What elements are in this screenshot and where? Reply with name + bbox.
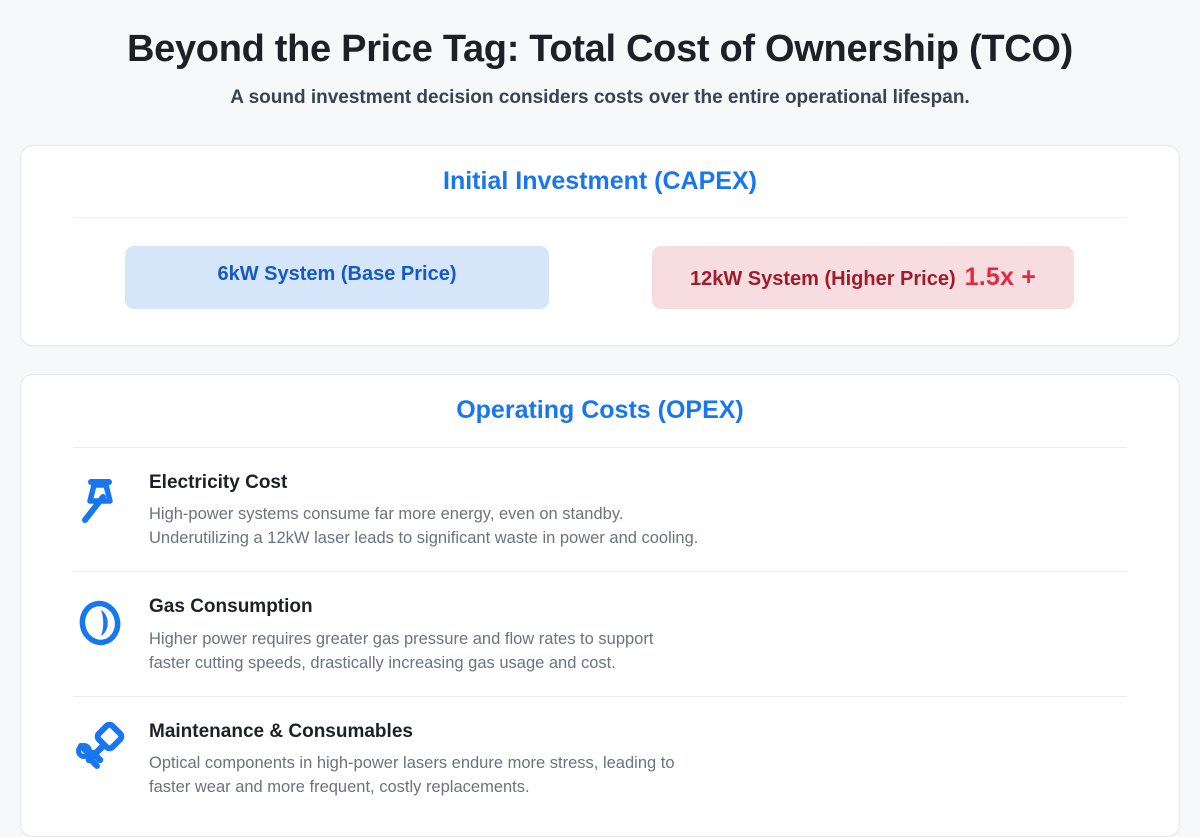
opex-item-text: Gas Consumption Higher power requires gr… <box>149 594 1127 676</box>
opex-item-gas-consumption: Gas Consumption Higher power requires gr… <box>73 572 1127 697</box>
opex-item-electricity-cost: Electricity Cost High-power systems cons… <box>73 448 1127 573</box>
opex-item-desc-line-1: High-power systems consume far more ener… <box>149 503 1127 527</box>
opex-item-maintenance-consumables: Maintenance & Consumables Optical compon… <box>73 697 1127 823</box>
badge-12kw-label: 12kW System (Higher Price) <box>690 268 956 291</box>
page-title: Beyond the Price Tag: Total Cost of Owne… <box>20 22 1180 72</box>
capex-base-column: 6kW System (Base Price) <box>73 246 600 309</box>
opex-item-desc-line-1: Higher power requires greater gas pressu… <box>149 628 1127 652</box>
badge-6kw-label: 6kW System (Base Price) <box>217 263 456 286</box>
page-subtitle: A sound investment decision considers co… <box>20 86 1180 111</box>
opex-items-list: Electricity Cost High-power systems cons… <box>21 448 1179 837</box>
opex-item-text: Maintenance & Consumables Optical compon… <box>149 719 1127 801</box>
capex-card-title: Initial Investment (CAPEX) <box>21 146 1179 197</box>
badge-12kw-multiplier: 1.5x + <box>965 263 1036 292</box>
lightning-bolt-icon <box>73 472 127 526</box>
opex-card: Operating Costs (OPEX) Electricity Cost … <box>20 374 1180 837</box>
badge-6kw-base-price[interactable]: 6kW System (Base Price) <box>125 246 549 309</box>
opex-item-desc-line-2: Underutilizing a 12kW laser leads to sig… <box>149 527 1127 551</box>
gas-gauge-icon <box>73 596 127 650</box>
opex-item-text: Electricity Cost High-power systems cons… <box>149 470 1127 552</box>
opex-item-desc-line-1: Optical components in high-power lasers … <box>149 752 1127 776</box>
opex-item-heading: Maintenance & Consumables <box>149 720 1127 745</box>
opex-card-title: Operating Costs (OPEX) <box>21 375 1179 426</box>
page-header: Beyond the Price Tag: Total Cost of Owne… <box>20 22 1180 117</box>
capex-card: Initial Investment (CAPEX) 6kW System (B… <box>20 145 1180 346</box>
tco-infographic-page: Beyond the Price Tag: Total Cost of Owne… <box>0 0 1200 837</box>
opex-item-desc-line-2: faster cutting speeds, drastically incre… <box>149 652 1127 676</box>
capex-badges-row: 6kW System (Base Price) 12kW System (Hig… <box>21 218 1179 345</box>
opex-item-heading: Electricity Cost <box>149 471 1127 496</box>
badge-12kw-higher-price[interactable]: 12kW System (Higher Price) 1.5x + <box>652 246 1074 309</box>
opex-item-desc-line-2: faster wear and more frequent, costly re… <box>149 776 1127 800</box>
opex-item-heading: Gas Consumption <box>149 595 1127 620</box>
capex-premium-column: 12kW System (Higher Price) 1.5x + <box>600 246 1127 309</box>
wrench-tool-icon <box>73 721 127 775</box>
